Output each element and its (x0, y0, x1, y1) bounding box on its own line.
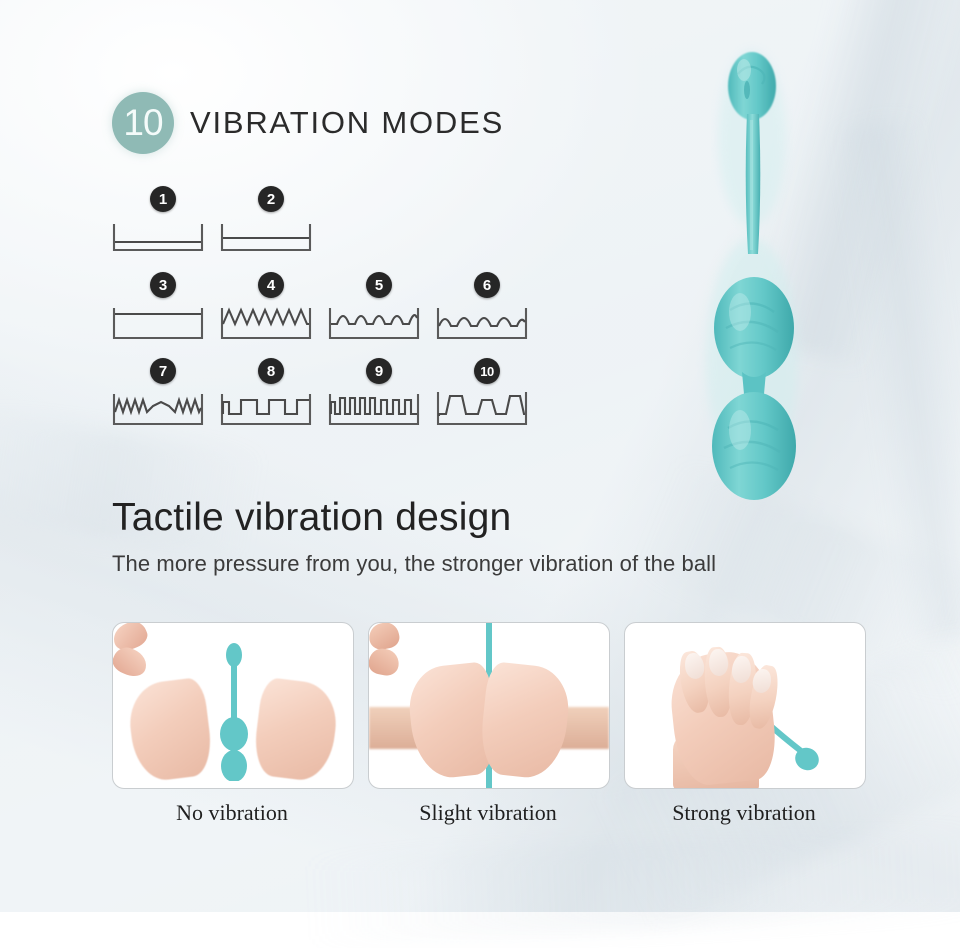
waveform-rounded-bumps-wide-icon (432, 294, 532, 342)
waveform-flat-icon (108, 294, 208, 342)
mode-item: 7 (108, 358, 208, 430)
mode-number-badge: 10 (474, 358, 500, 384)
mode-count-badge: 10 (112, 92, 174, 154)
mode-row: 1 2 (108, 186, 538, 258)
knuckle-right (368, 646, 401, 678)
mode-item: 4 (216, 272, 316, 344)
mode-number-badge: 3 (150, 272, 176, 298)
panel-image-strong-vibration (624, 622, 866, 789)
waveform-flat-icon (108, 208, 208, 256)
hand-left (125, 677, 214, 784)
mode-row: 3 4 5 6 (108, 272, 538, 344)
waveform-dense-square-pulse-icon (324, 380, 424, 428)
mode-item: 5 (324, 272, 424, 344)
demo-panels: No vibration Slight vibration (112, 622, 864, 826)
mode-number-badge: 1 (150, 186, 176, 212)
demo-panel: No vibration (112, 622, 352, 826)
mode-number-badge: 4 (258, 272, 284, 298)
panel-image-slight-vibration (368, 622, 610, 789)
mode-number-badge: 2 (258, 186, 284, 212)
hand-right (251, 677, 340, 784)
waveform-flat-icon (216, 208, 316, 256)
scene-hands-apart (113, 623, 353, 788)
mode-number-badge: 7 (150, 358, 176, 384)
mode-item: 1 (108, 186, 208, 258)
mode-number-badge: 8 (258, 358, 284, 384)
waveform-mixed-zigzag-icon (108, 380, 208, 428)
scene-cupped-hands (369, 623, 609, 788)
mode-item: 2 (216, 186, 316, 258)
panel-caption: No vibration (112, 800, 352, 826)
mode-item: 9 (324, 358, 424, 430)
thumb-right (112, 644, 151, 681)
page-title: VIBRATION MODES (190, 105, 504, 141)
waveform-large-square-pulse-icon (432, 380, 532, 428)
mode-item: 10 (432, 358, 532, 430)
panel-caption: Strong vibration (624, 800, 864, 826)
mode-item: 3 (108, 272, 208, 344)
header: 10 VIBRATION MODES (112, 92, 504, 154)
mode-row: 7 8 9 10 (108, 358, 538, 430)
mode-number-badge: 9 (366, 358, 392, 384)
demo-panel: Slight vibration (368, 622, 608, 826)
hand-right (477, 661, 572, 781)
demo-panel: Strong vibration (624, 622, 864, 826)
panel-caption: Slight vibration (368, 800, 608, 826)
waveform-dense-zigzag-icon (216, 294, 316, 342)
mode-item: 8 (216, 358, 316, 430)
waveform-wide-square-pulse-icon (216, 380, 316, 428)
mode-number-badge: 6 (474, 272, 500, 298)
section-subheading: The more pressure from you, the stronger… (112, 551, 716, 577)
knuckle-left (368, 622, 401, 652)
product-photo (690, 28, 840, 518)
vibration-mode-grid: 1 2 3 4 (108, 186, 538, 444)
waveform-rounded-bumps-icon (324, 294, 424, 342)
mode-item: 6 (432, 272, 532, 344)
mode-number-badge: 5 (366, 272, 392, 298)
scene-fist-grip (625, 623, 865, 788)
section-heading: Tactile vibration design (112, 496, 511, 540)
product-in-scene (216, 641, 252, 781)
panel-image-no-vibration (112, 622, 354, 789)
